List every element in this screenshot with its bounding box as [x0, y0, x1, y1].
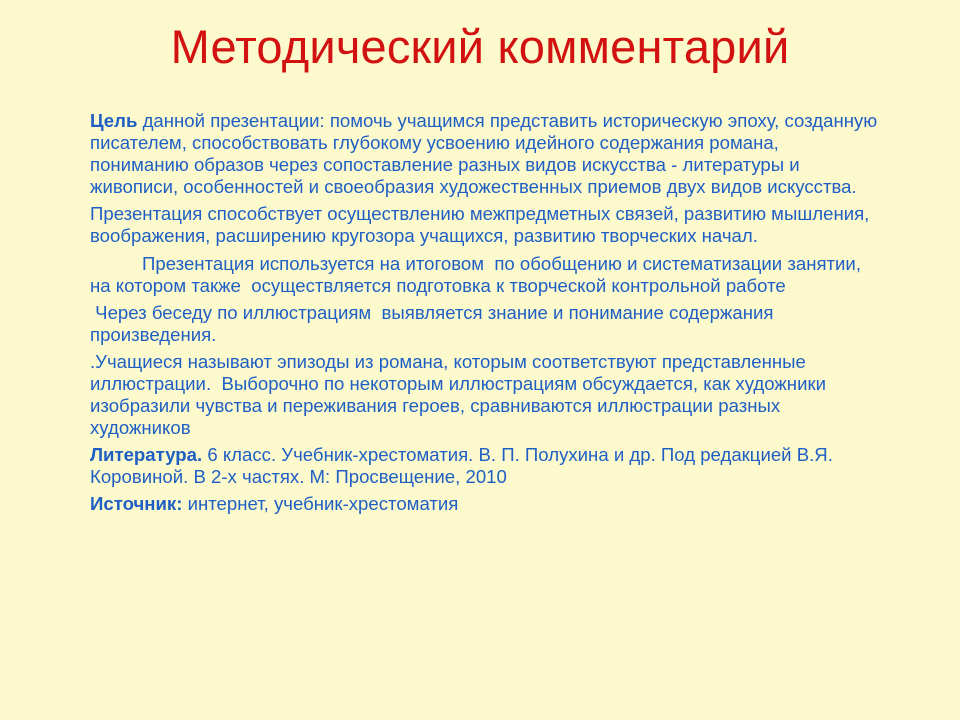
- paragraph-literature-text: 6 класс. Учебник-хрестоматия. В. П. Полу…: [90, 444, 838, 487]
- slide-body: Цель данной презентации: помочь учащимся…: [90, 110, 882, 519]
- paragraph-usage-text: Презентация используется на итоговом по …: [90, 253, 866, 296]
- paragraph-literature-label: Литература.: [90, 444, 202, 465]
- paragraph-literature: Литература. 6 класс. Учебник-хрестоматия…: [90, 444, 882, 488]
- paragraph-source-label: Источник:: [90, 493, 182, 514]
- paragraph-usage: Презентация используется на итоговом по …: [90, 253, 882, 297]
- paragraph-purpose: Цель данной презентации: помочь учащимся…: [90, 110, 882, 198]
- page-title: Методический комментарий: [0, 22, 960, 73]
- paragraph-episodes-text: .Учащиеся называют эпизоды из романа, ко…: [90, 351, 831, 438]
- paragraph-purpose-text: данной презентации: помочь учащимся пред…: [90, 110, 882, 197]
- paragraph-purpose-label: Цель: [90, 110, 137, 131]
- paragraph-conversation-text: Через беседу по иллюстрациям выявляется …: [90, 302, 779, 345]
- presentation-slide: Методический комментарий Цель данной пре…: [0, 0, 960, 720]
- paragraph-source: Источник: интернет, учебник-хрестоматия: [90, 493, 882, 515]
- paragraph-conversation: Через беседу по иллюстрациям выявляется …: [90, 302, 882, 346]
- paragraph-interdisciplinary-text: Презентация способствует осуществлению м…: [90, 203, 875, 246]
- paragraph-source-text: интернет, учебник-хрестоматия: [182, 493, 458, 514]
- paragraph-episodes: .Учащиеся называют эпизоды из романа, ко…: [90, 351, 882, 439]
- paragraph-interdisciplinary: Презентация способствует осуществлению м…: [90, 203, 882, 247]
